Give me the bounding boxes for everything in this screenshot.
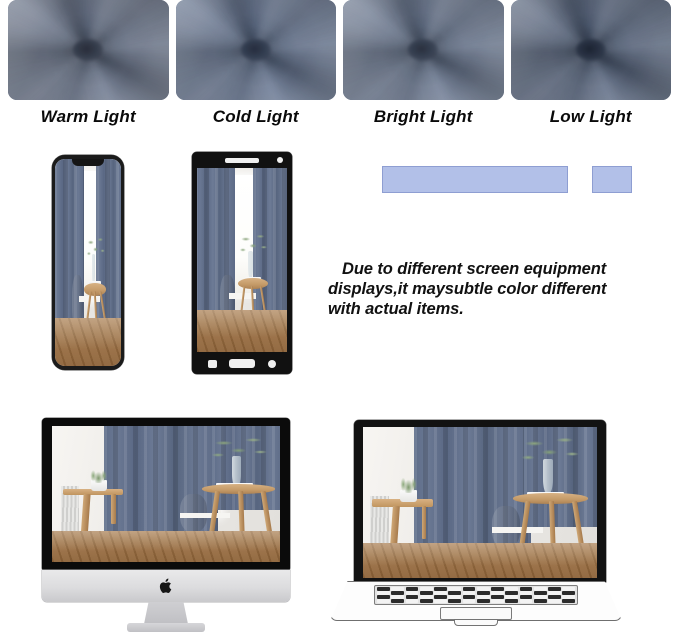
android-recents-button[interactable] [268, 360, 276, 368]
curtain-room-scene [52, 426, 280, 562]
scene-vase [232, 456, 241, 486]
scene-bench-leg [111, 494, 116, 524]
color-bar-wide [382, 166, 568, 193]
scene-floor-reflection [52, 531, 280, 562]
scene-potted-plant [88, 467, 109, 483]
laptop-keyboard[interactable] [374, 585, 578, 605]
laptop-screen [363, 427, 597, 578]
laptop-mockup [330, 420, 622, 632]
android-back-button[interactable] [208, 360, 217, 368]
imac-chin [42, 570, 290, 602]
fabric-swatch-low-light [511, 0, 672, 100]
fabric-swatch-label-row: Warm Light Cold Light Bright Light Low L… [0, 104, 679, 134]
curtain-room-scene [197, 168, 287, 352]
swatch-label-bright-light: Bright Light [343, 104, 504, 134]
scene-potted-plant [398, 474, 419, 494]
imac-mockup [42, 418, 290, 632]
scene-floor-reflection [197, 310, 287, 352]
laptop-front-lip [454, 619, 498, 626]
fabric-swatch-row [0, 0, 679, 102]
color-bar-narrow [592, 166, 632, 193]
android-mockup [192, 152, 292, 374]
curtain-room-scene [55, 159, 121, 366]
android-speaker-icon [225, 158, 259, 163]
color-swatch-bars [382, 166, 632, 193]
scene-vase [92, 254, 95, 283]
disclaimer-line-2: displays,it maysubtle color different [328, 279, 638, 299]
scene-plant-branches [87, 234, 107, 263]
android-home-button[interactable] [229, 359, 255, 368]
iphone-mockup [52, 155, 124, 370]
fabric-light-tint [8, 0, 169, 100]
keyboard-row [377, 599, 575, 603]
fabric-swatch-cold-light [176, 0, 337, 100]
imac-bezel [42, 418, 290, 570]
android-camera-icon [277, 157, 283, 163]
scene-plant-branches [212, 434, 271, 464]
scene-vase [543, 459, 552, 494]
scene-baseboard [492, 527, 543, 533]
fabric-swatch-warm-light [8, 0, 169, 100]
apple-logo-icon [159, 578, 174, 595]
imac-screen [52, 426, 280, 562]
color-disclaimer-text: Due to different screen equipment displa… [328, 259, 638, 319]
scene-plant-branches [240, 231, 269, 259]
scene-vase [248, 251, 253, 279]
disclaimer-line-3: with actual items. [328, 299, 638, 319]
android-screen [197, 168, 287, 352]
curtain-room-scene [363, 427, 597, 578]
scene-baseboard [180, 513, 230, 518]
swatch-label-low-light: Low Light [511, 104, 672, 134]
fabric-light-tint [511, 0, 672, 100]
laptop-lid [354, 420, 606, 582]
imac-stand-foot [127, 623, 205, 632]
iphone-notch [72, 159, 104, 166]
fabric-swatch-bright-light [343, 0, 504, 100]
scene-floor-reflection [363, 543, 597, 578]
scene-floor-reflection [55, 318, 121, 366]
scene-bench-leg [422, 506, 427, 539]
swatch-label-cold-light: Cold Light [176, 104, 337, 134]
disclaimer-line-1: Due to different screen equipment [328, 259, 638, 279]
fabric-light-tint [176, 0, 337, 100]
fabric-light-tint [343, 0, 504, 100]
swatch-label-warm-light: Warm Light [8, 104, 169, 134]
iphone-screen [55, 159, 121, 366]
